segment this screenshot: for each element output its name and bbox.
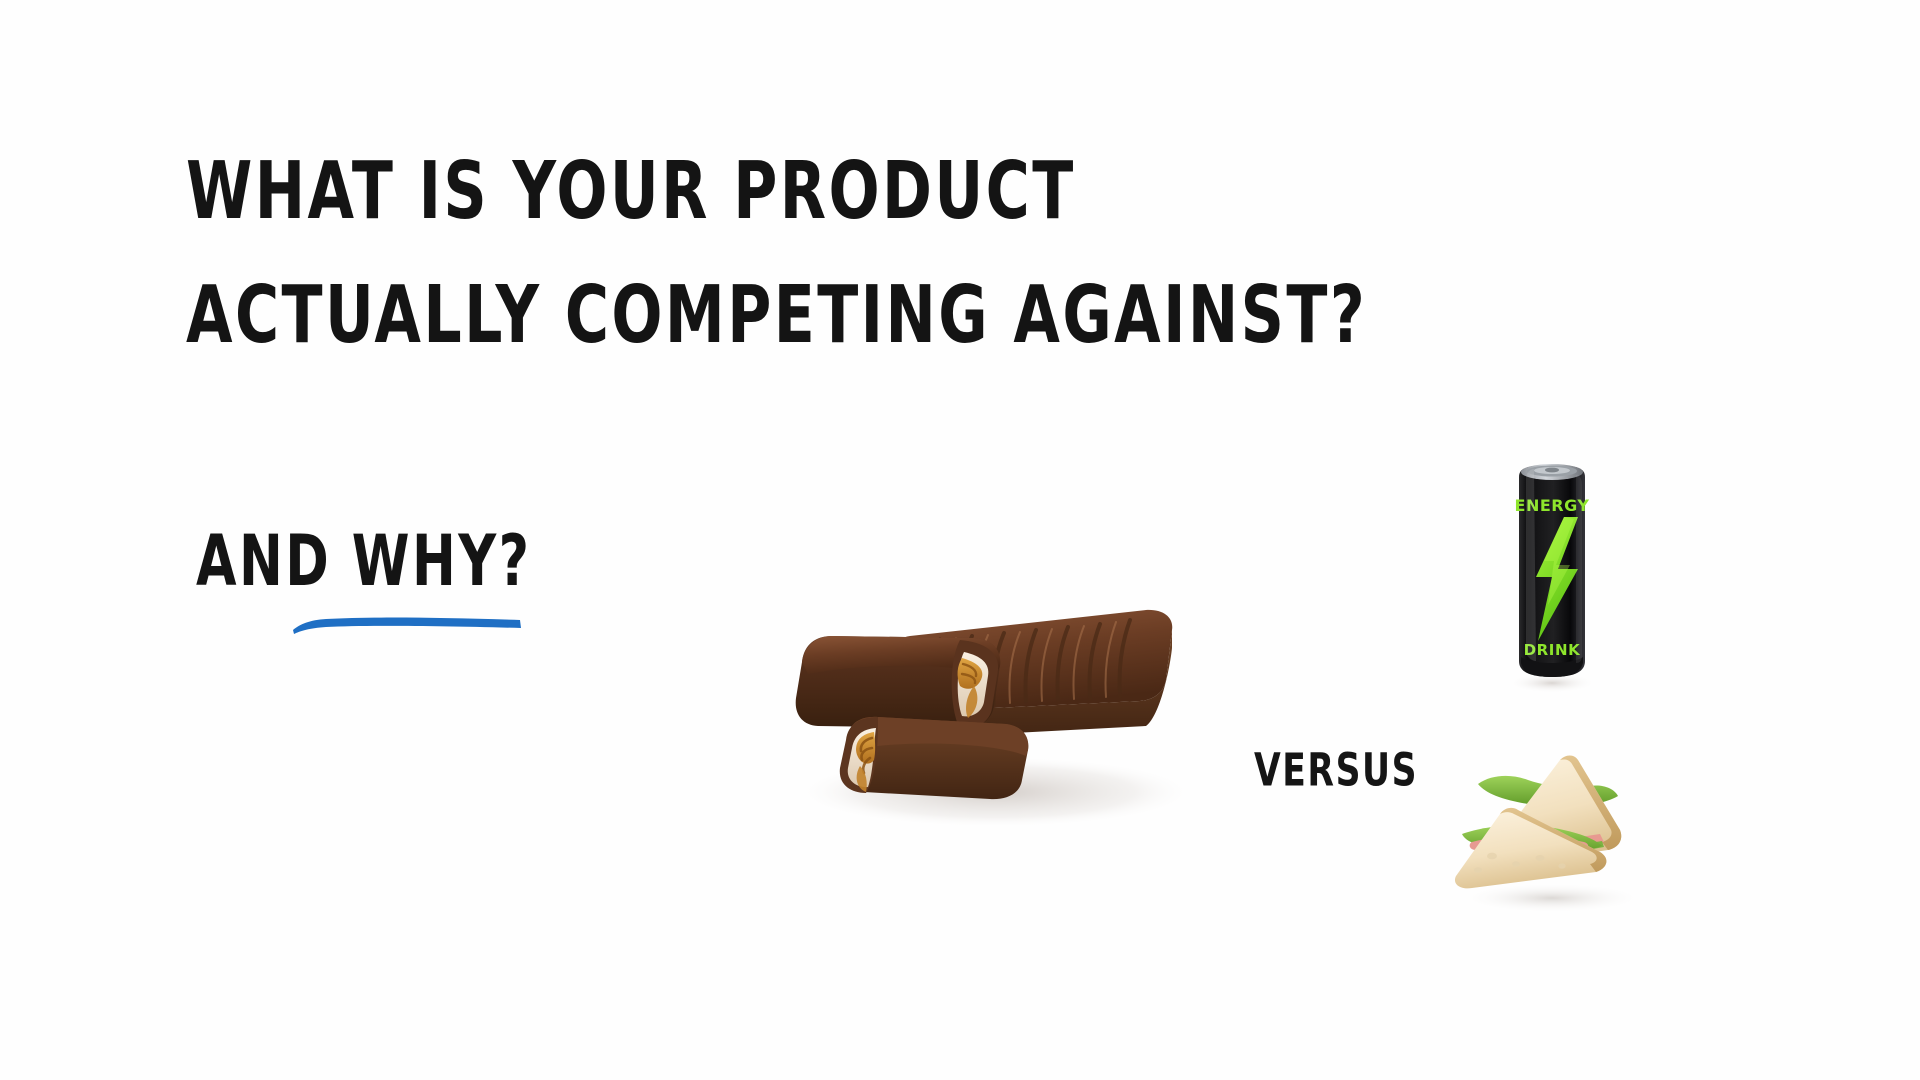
versus-label: VERSUS	[1254, 745, 1418, 797]
page-title: WHAT IS YOUR PRODUCT ACTUALLY COMPETING …	[186, 136, 1386, 345]
blue-underline-stroke	[292, 616, 522, 635]
subheadline: AND WHY?	[196, 520, 542, 583]
headline-line-1: WHAT IS YOUR PRODUCT	[186, 136, 1350, 246]
subheadline-text: AND WHY?	[196, 520, 531, 602]
sandwich-image	[1442, 730, 1662, 915]
energy-drink-can-image: ENERGY DRINK	[1492, 455, 1612, 695]
chocolate-bar-image	[760, 540, 1230, 840]
slide-canvas: WHAT IS YOUR PRODUCT ACTUALLY COMPETING …	[0, 0, 1920, 1080]
headline-line-2: ACTUALLY COMPETING AGAINST?	[186, 260, 1350, 370]
